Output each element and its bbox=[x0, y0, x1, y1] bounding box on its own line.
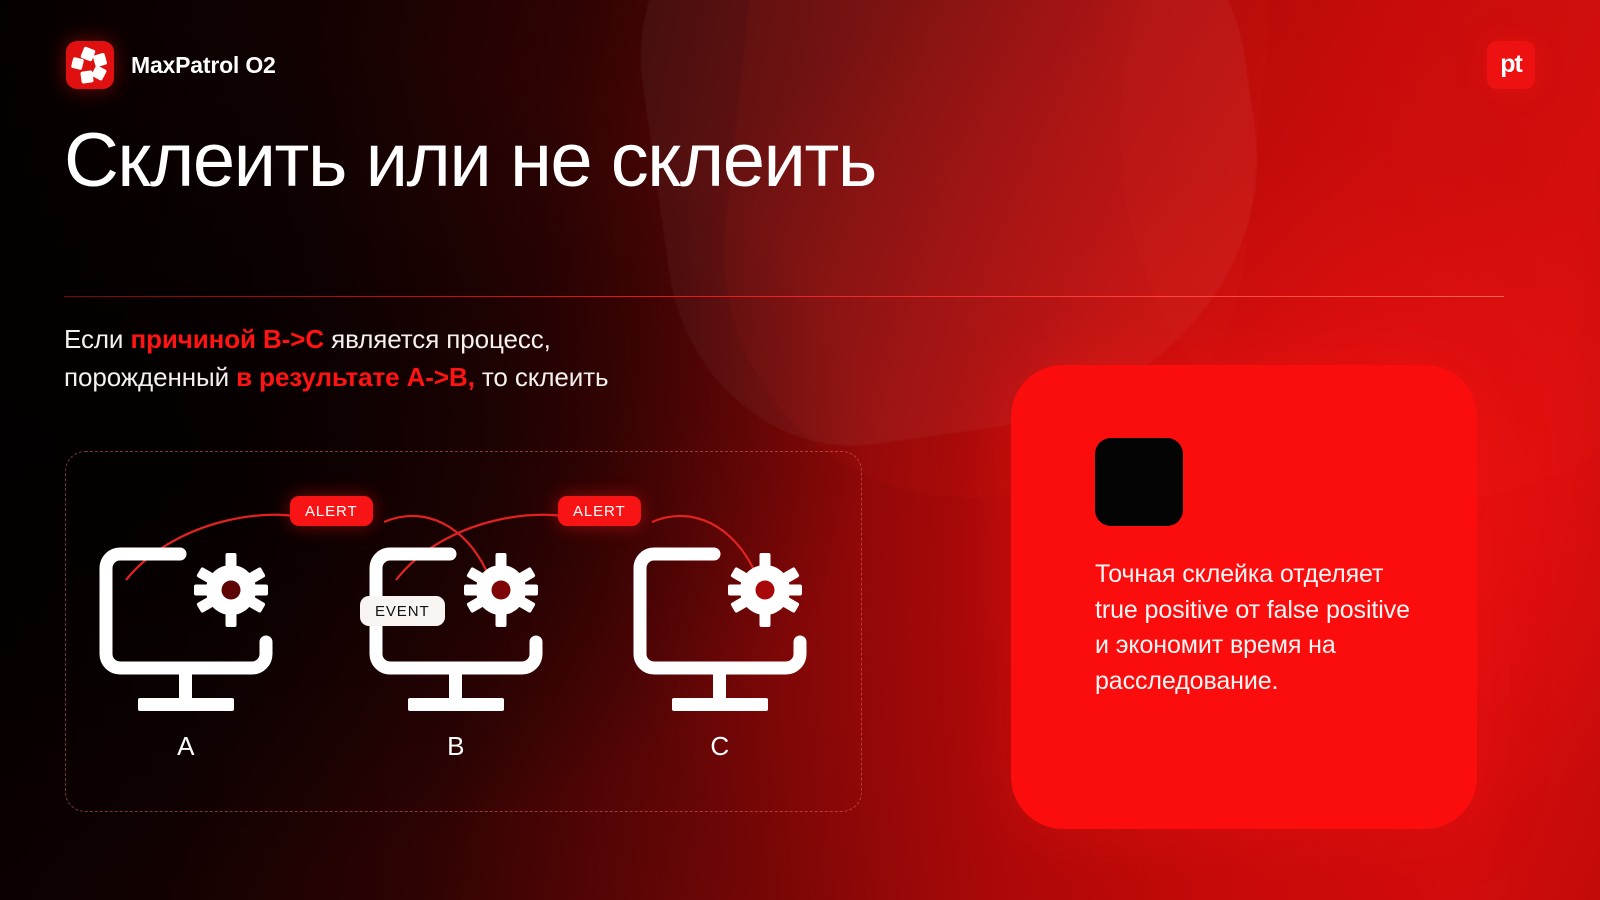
event-badge[interactable]: EVENT bbox=[360, 596, 445, 626]
diagram-node-a[interactable]: A bbox=[92, 538, 292, 762]
subtitle-line2-highlight: в результате A->B, bbox=[236, 362, 475, 392]
slide-canvas: MaxPatrol O2 pt Склеить или не склеить Е… bbox=[0, 0, 1600, 900]
diagram-node-label: B bbox=[376, 731, 536, 762]
diagram-node-label: C bbox=[640, 731, 800, 762]
subtitle-line1-highlight: причиной B->C bbox=[130, 324, 324, 354]
monitor-gear-icon bbox=[92, 538, 282, 723]
monitor-gear-icon bbox=[626, 538, 816, 723]
info-card-text: Точная склейка отделяет true positive от… bbox=[1095, 557, 1425, 699]
alert-badge[interactable]: ALERT bbox=[290, 496, 373, 526]
diagram-node-b[interactable]: B bbox=[362, 538, 562, 762]
diagram-nodes: A bbox=[66, 452, 861, 811]
flow-diagram-panel: A bbox=[65, 451, 862, 812]
diagram-node-c[interactable]: C bbox=[626, 538, 826, 762]
maxpatrol-pinwheel-icon bbox=[66, 41, 114, 89]
subtitle-line1-prefix: Если bbox=[64, 324, 130, 354]
subtitle-line2-prefix: порожденный bbox=[64, 362, 236, 392]
header-divider bbox=[64, 296, 1504, 297]
alert-badge[interactable]: ALERT bbox=[558, 496, 641, 526]
subtitle-line1-suffix: является процесс, bbox=[324, 324, 551, 354]
page-title: Склеить или не склеить bbox=[64, 122, 876, 200]
monitor-gear-icon bbox=[362, 538, 552, 723]
pt-logo-text: pt bbox=[1500, 52, 1522, 77]
subtitle-line2-suffix: то склеить bbox=[475, 362, 609, 392]
brand-lockup: MaxPatrol O2 bbox=[66, 41, 276, 89]
diagram-node-label: A bbox=[106, 731, 266, 762]
brand-name: MaxPatrol O2 bbox=[131, 52, 276, 79]
black-square-glyph bbox=[1095, 438, 1183, 526]
subtitle-text: Если причиной B->C является процесс, пор… bbox=[64, 320, 784, 397]
positive-technologies-logo: pt bbox=[1487, 41, 1535, 89]
info-card: Точная склейка отделяет true positive от… bbox=[1011, 365, 1477, 829]
